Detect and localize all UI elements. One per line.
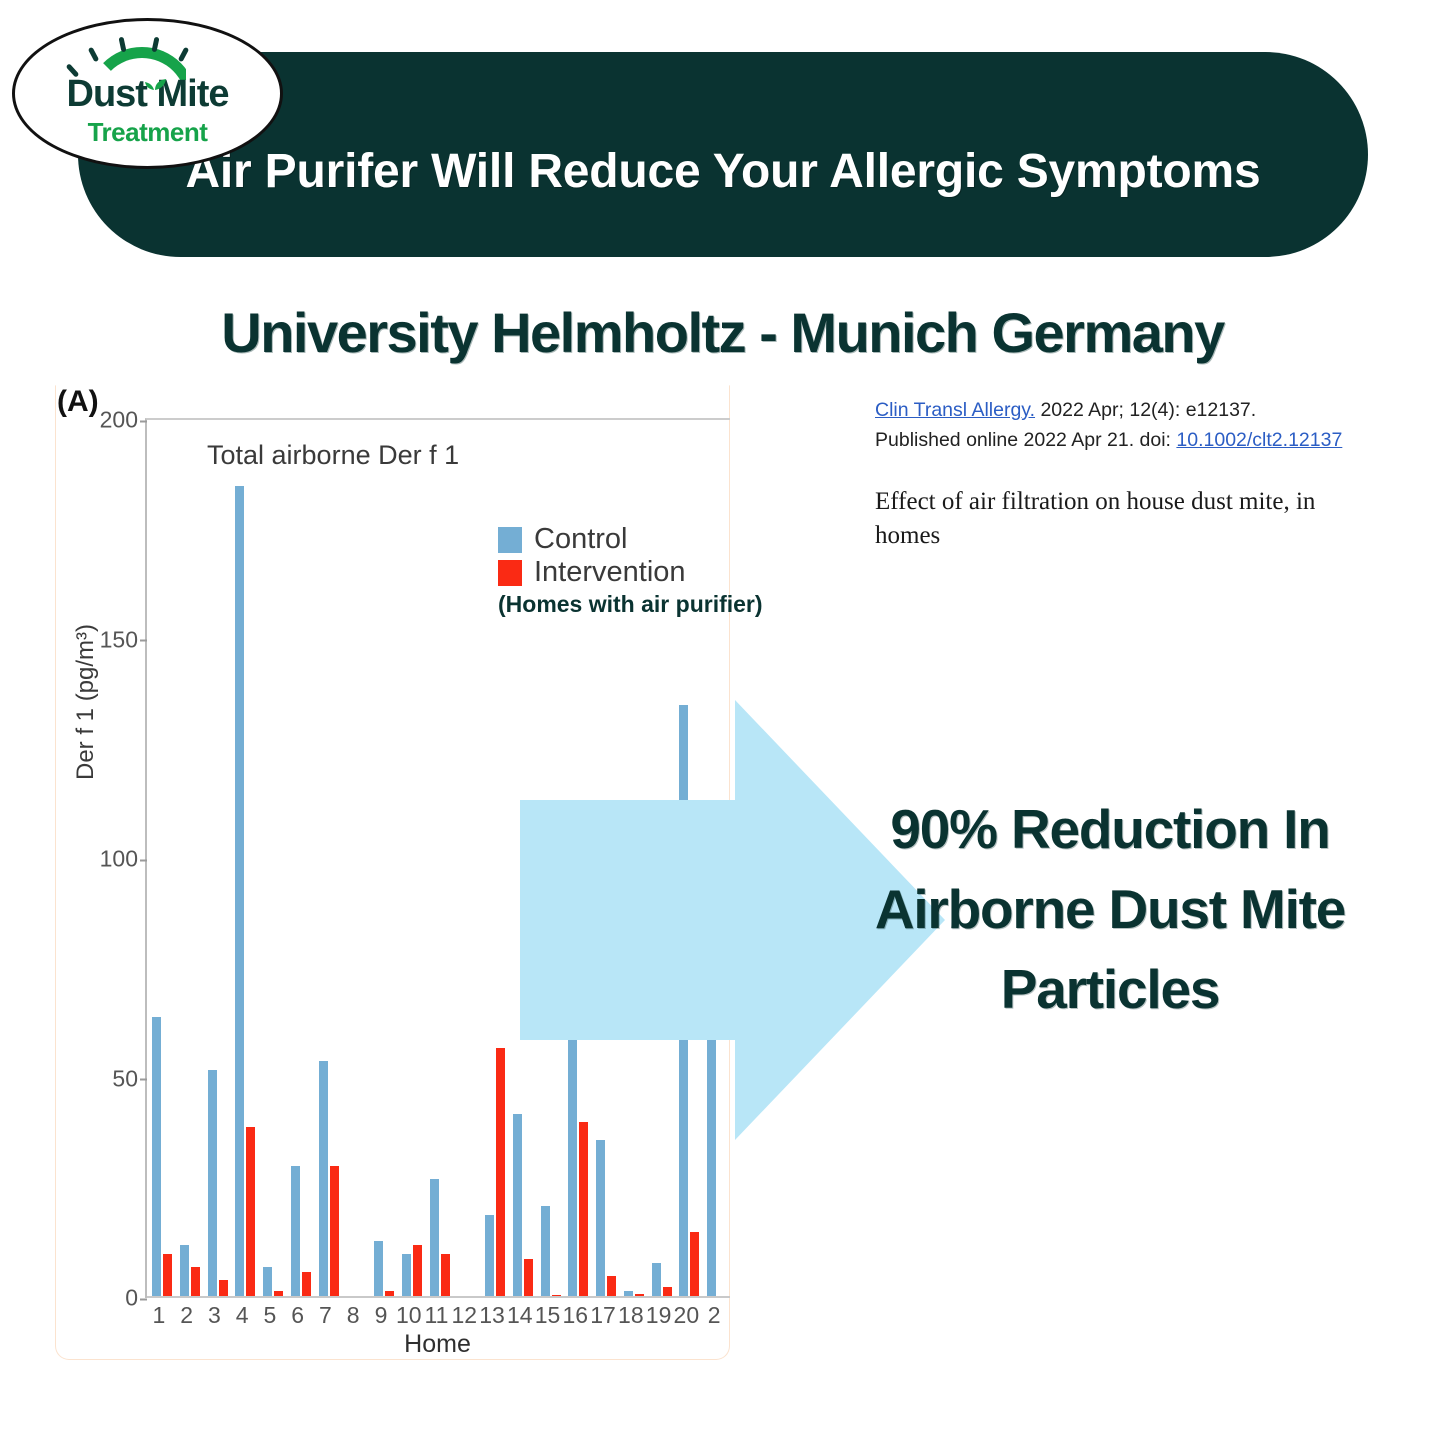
- brand-logo: Dust Mite Treatment: [12, 18, 283, 169]
- y-axis-tick: 50: [112, 1065, 147, 1092]
- y-axis-tick: 0: [125, 1285, 147, 1312]
- citation-block: Clin Transl Allergy. 2022 Apr; 12(4): e1…: [875, 395, 1375, 455]
- x-axis-tick: 3: [208, 1302, 221, 1329]
- x-axis-tick: 11: [425, 1302, 449, 1329]
- logo-tagline: Treatment: [15, 117, 280, 148]
- x-axis-label: Home: [145, 1330, 730, 1359]
- callout-line-1: 90% Reduction In: [800, 790, 1420, 870]
- logo-ray-icon: [88, 47, 99, 63]
- bar-intervention: [413, 1245, 422, 1298]
- x-axis-tick: 18: [618, 1302, 644, 1329]
- chart-panel-label: (A): [57, 385, 99, 419]
- bar-control: [541, 1206, 550, 1298]
- bar-control: [180, 1245, 189, 1298]
- chart-bar-group: [263, 420, 285, 1298]
- leaf-icon: [143, 73, 167, 91]
- x-axis-tick: 2: [180, 1302, 193, 1329]
- x-axis-tick: 6: [291, 1302, 304, 1329]
- bar-control: [152, 1017, 161, 1298]
- x-axis-tick: 14: [507, 1302, 533, 1329]
- chart-bar-group: [457, 420, 479, 1298]
- bar-control: [485, 1215, 494, 1298]
- chart-bar-group: [180, 420, 202, 1298]
- bar-intervention: [496, 1048, 505, 1298]
- paper-title: Effect of air filtration on house dust m…: [875, 485, 1380, 553]
- callout-text: 90% Reduction In Airborne Dust Mite Part…: [800, 790, 1420, 1029]
- bar-control: [208, 1070, 217, 1298]
- x-axis-tick: 13: [479, 1302, 505, 1329]
- logo-ray-icon: [178, 47, 189, 63]
- x-axis-tick: 17: [590, 1302, 616, 1329]
- bar-intervention: [579, 1122, 588, 1298]
- bar-control: [513, 1114, 522, 1298]
- bar-control: [652, 1263, 661, 1298]
- bar-intervention: [607, 1276, 616, 1298]
- y-axis-tick: 200: [100, 407, 147, 434]
- x-axis-tick: 12: [451, 1302, 477, 1329]
- citation-issue: 2022 Apr; 12(4): e12137.: [1035, 399, 1256, 421]
- legend-note: (Homes with air purifier): [498, 591, 763, 618]
- y-axis-tick: 100: [100, 846, 147, 873]
- chart-bar-group: [235, 420, 257, 1298]
- bar-control: [596, 1140, 605, 1298]
- x-axis-tick: 9: [375, 1302, 388, 1329]
- bar-intervention: [163, 1254, 172, 1298]
- bar-control: [291, 1166, 300, 1298]
- chart-bar-group: [402, 420, 424, 1298]
- x-axis-tick: 7: [319, 1302, 332, 1329]
- bar-intervention: [441, 1254, 450, 1298]
- chart-bar-group: [152, 420, 174, 1298]
- chart-bar-group: [346, 420, 368, 1298]
- bar-intervention: [302, 1272, 311, 1298]
- legend-swatch-control: [498, 527, 522, 553]
- bar-control: [430, 1179, 439, 1298]
- legend-item-intervention: Intervention: [498, 556, 763, 589]
- bar-control: [263, 1267, 272, 1298]
- doi-link[interactable]: 10.1002/clt2.12137: [1176, 429, 1342, 451]
- chart-bar-group: [319, 420, 341, 1298]
- x-axis-tick: 19: [646, 1302, 672, 1329]
- chart-bar-group: [291, 420, 313, 1298]
- x-axis-tick: 8: [347, 1302, 360, 1329]
- legend-label-intervention: Intervention: [534, 556, 686, 589]
- x-axis-tick: 15: [535, 1302, 561, 1329]
- citation-line-2: Published online 2022 Apr 21. doi: 10.10…: [875, 425, 1375, 455]
- bar-control: [319, 1061, 328, 1298]
- callout-line-2: Airborne Dust Mite: [800, 870, 1420, 950]
- y-axis-tick: 150: [100, 626, 147, 653]
- bar-intervention: [191, 1267, 200, 1298]
- x-axis-tick: 4: [236, 1302, 249, 1329]
- chart-baseline: [147, 1296, 730, 1298]
- x-axis-tick: 5: [264, 1302, 277, 1329]
- y-axis-label: Der f 1 (pg/m³): [72, 624, 100, 780]
- citation-line-1: Clin Transl Allergy. 2022 Apr; 12(4): e1…: [875, 395, 1375, 425]
- callout-line-3: Particles: [800, 950, 1420, 1030]
- x-axis-tick: 1: [152, 1302, 165, 1329]
- bar-intervention: [246, 1127, 255, 1298]
- bar-control: [402, 1254, 411, 1298]
- logo-ray-icon: [118, 37, 126, 53]
- x-axis-tick: 20: [674, 1302, 700, 1329]
- legend-label-control: Control: [534, 523, 628, 556]
- bar-control: [374, 1241, 383, 1298]
- legend-item-control: Control: [498, 523, 763, 556]
- chart-bar-group: [430, 420, 452, 1298]
- bar-intervention: [330, 1166, 339, 1298]
- x-axis-tick: 16: [563, 1302, 589, 1329]
- legend-swatch-intervention: [498, 560, 522, 586]
- published-prefix: Published online 2022 Apr 21. doi:: [875, 429, 1176, 451]
- university-subtitle: University Helmholtz - Munich Germany: [0, 300, 1445, 365]
- chart-legend: Control Intervention (Homes with air pur…: [498, 523, 763, 618]
- bar-control: [235, 486, 244, 1298]
- bar-intervention: [690, 1232, 699, 1298]
- journal-link[interactable]: Clin Transl Allergy.: [875, 399, 1035, 421]
- x-axis-tick: 10: [396, 1302, 422, 1329]
- chart-bar-group: [374, 420, 396, 1298]
- chart-bar-group: [208, 420, 230, 1298]
- bar-intervention: [524, 1259, 533, 1299]
- x-axis-tick: 2: [708, 1302, 721, 1329]
